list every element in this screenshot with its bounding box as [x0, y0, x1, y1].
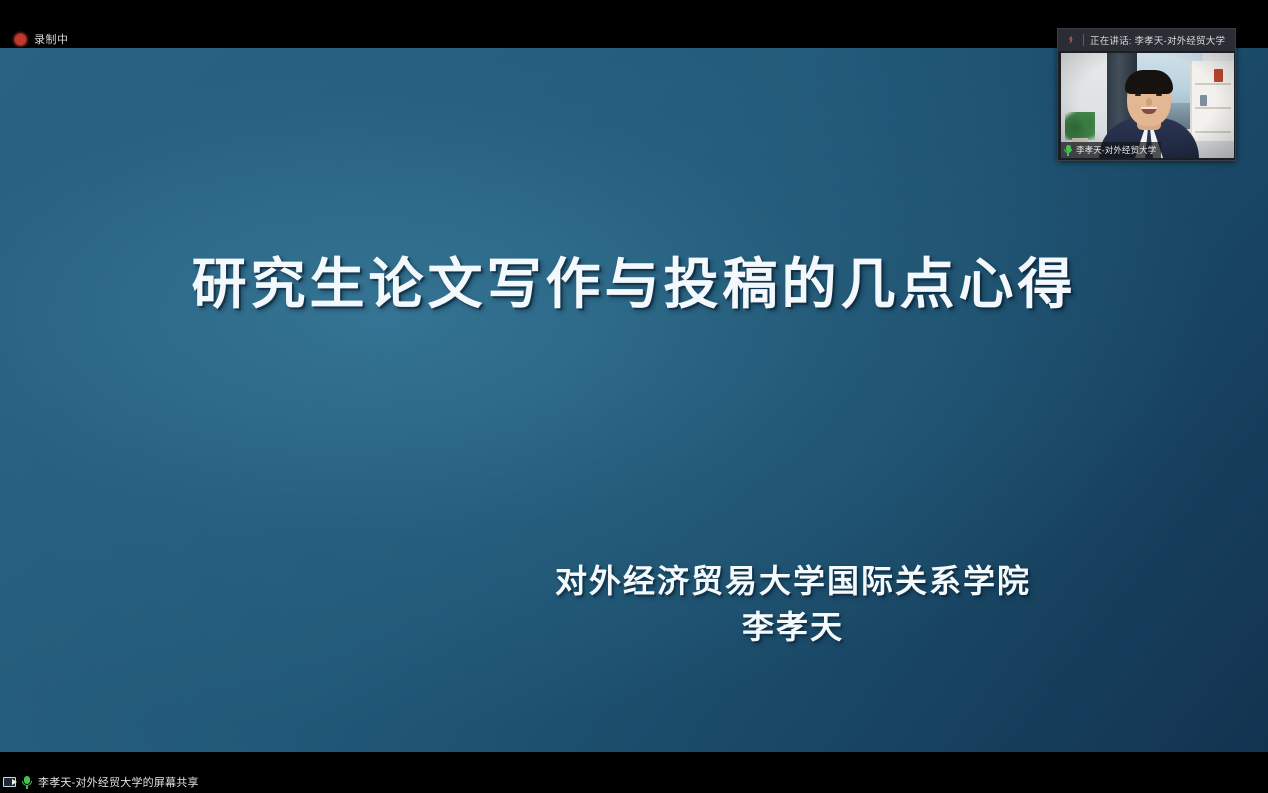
active-speaker-video-panel[interactable]: 正在讲话: 李孝天-对外经贸大学 [1057, 28, 1236, 161]
screen-share-viewer: 录制中 研究生论文写作与投稿的几点心得 对外经济贸易大学国际关系学院 李孝天 李… [0, 0, 1268, 793]
taskbar-screen-share-entry[interactable]: 李孝天-对外经贸大学的屏幕共享 [3, 774, 199, 790]
slide-subtitle-affiliation: 对外经济贸易大学国际关系学院 [318, 558, 1268, 604]
slide-title: 研究生论文写作与投稿的几点心得 [0, 253, 1268, 316]
recording-label: 录制中 [34, 31, 69, 47]
taskbar-entry-label: 李孝天-对外经贸大学的屏幕共享 [38, 774, 199, 790]
screen-share-icon [3, 777, 16, 788]
video-participant-name: 李孝天-对外经贸大学 [1076, 144, 1156, 156]
recording-dot-icon [14, 33, 27, 46]
video-panel-header[interactable]: 正在讲话: 李孝天-对外经贸大学 [1058, 29, 1235, 51]
microphone-icon [22, 776, 32, 789]
video-feed: 李孝天-对外经贸大学 [1061, 53, 1234, 158]
bottom-bar: 李孝天-对外经贸大学的屏幕共享 [0, 752, 1268, 793]
recording-indicator[interactable]: 录制中 [14, 31, 69, 47]
slide-subtitle: 对外经济贸易大学国际关系学院 李孝天 [0, 558, 1268, 651]
active-speaker-label: 正在讲话: 李孝天-对外经贸大学 [1090, 33, 1225, 47]
video-participant-name-tag: 李孝天-对外经贸大学 [1061, 142, 1161, 158]
speaker-talking-icon [1064, 34, 1077, 47]
slide-subtitle-author: 李孝天 [318, 604, 1268, 650]
microphone-icon [1064, 145, 1072, 156]
header-divider [1083, 34, 1084, 46]
